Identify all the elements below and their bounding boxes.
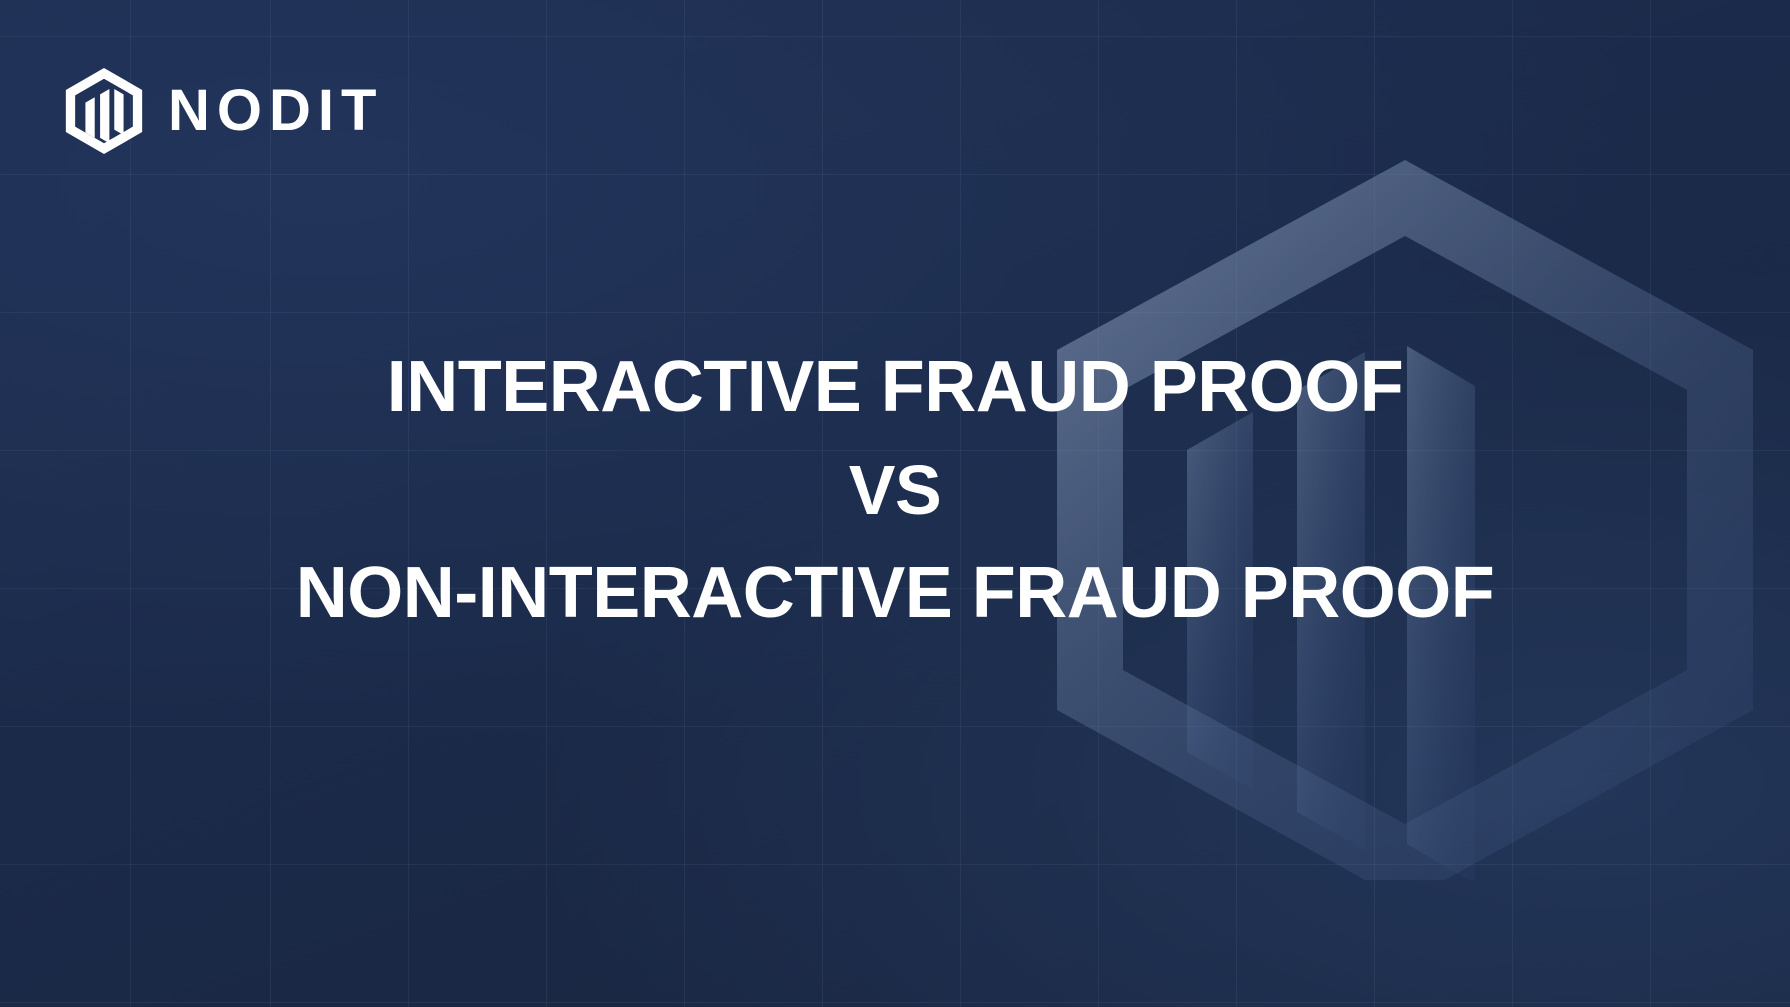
brand-lockup: NODIT <box>62 66 383 156</box>
nodit-hexagon-logo-icon <box>62 66 146 156</box>
page-title: INTERACTIVE FRAUD PROOF VS NON-INTERACTI… <box>0 336 1790 645</box>
title-line-vs: VS <box>0 439 1790 542</box>
slide-canvas: NODIT INTERACTIVE FRAUD PROOF VS NON-INT… <box>0 0 1790 1007</box>
brand-wordmark: NODIT <box>168 82 383 140</box>
title-line-3: NON-INTERACTIVE FRAUD PROOF <box>0 542 1790 645</box>
title-line-1: INTERACTIVE FRAUD PROOF <box>0 336 1790 439</box>
